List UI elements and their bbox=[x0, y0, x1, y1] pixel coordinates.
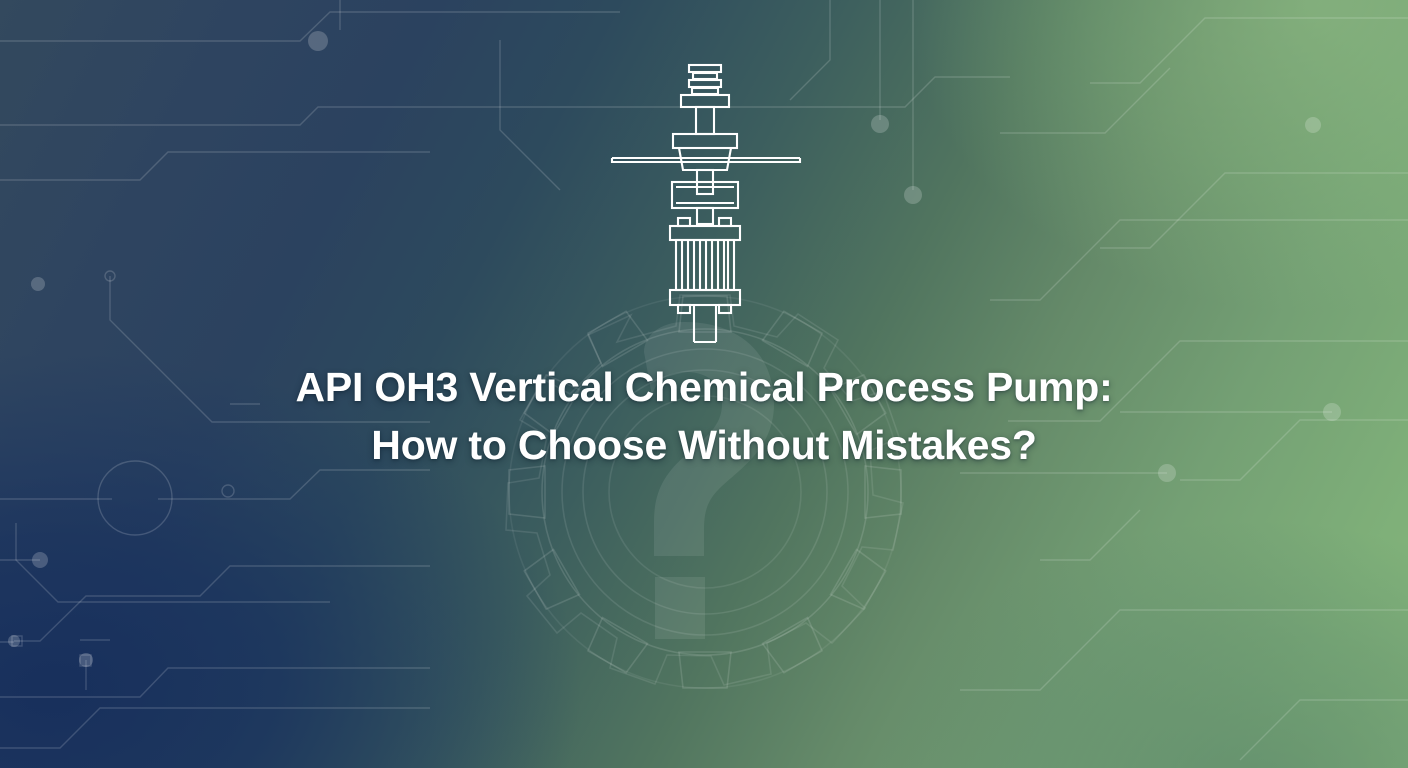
vertical-pump-line-art bbox=[0, 0, 1408, 768]
banner-canvas: API OH3 Vertical Chemical Process Pump: … bbox=[0, 0, 1408, 768]
